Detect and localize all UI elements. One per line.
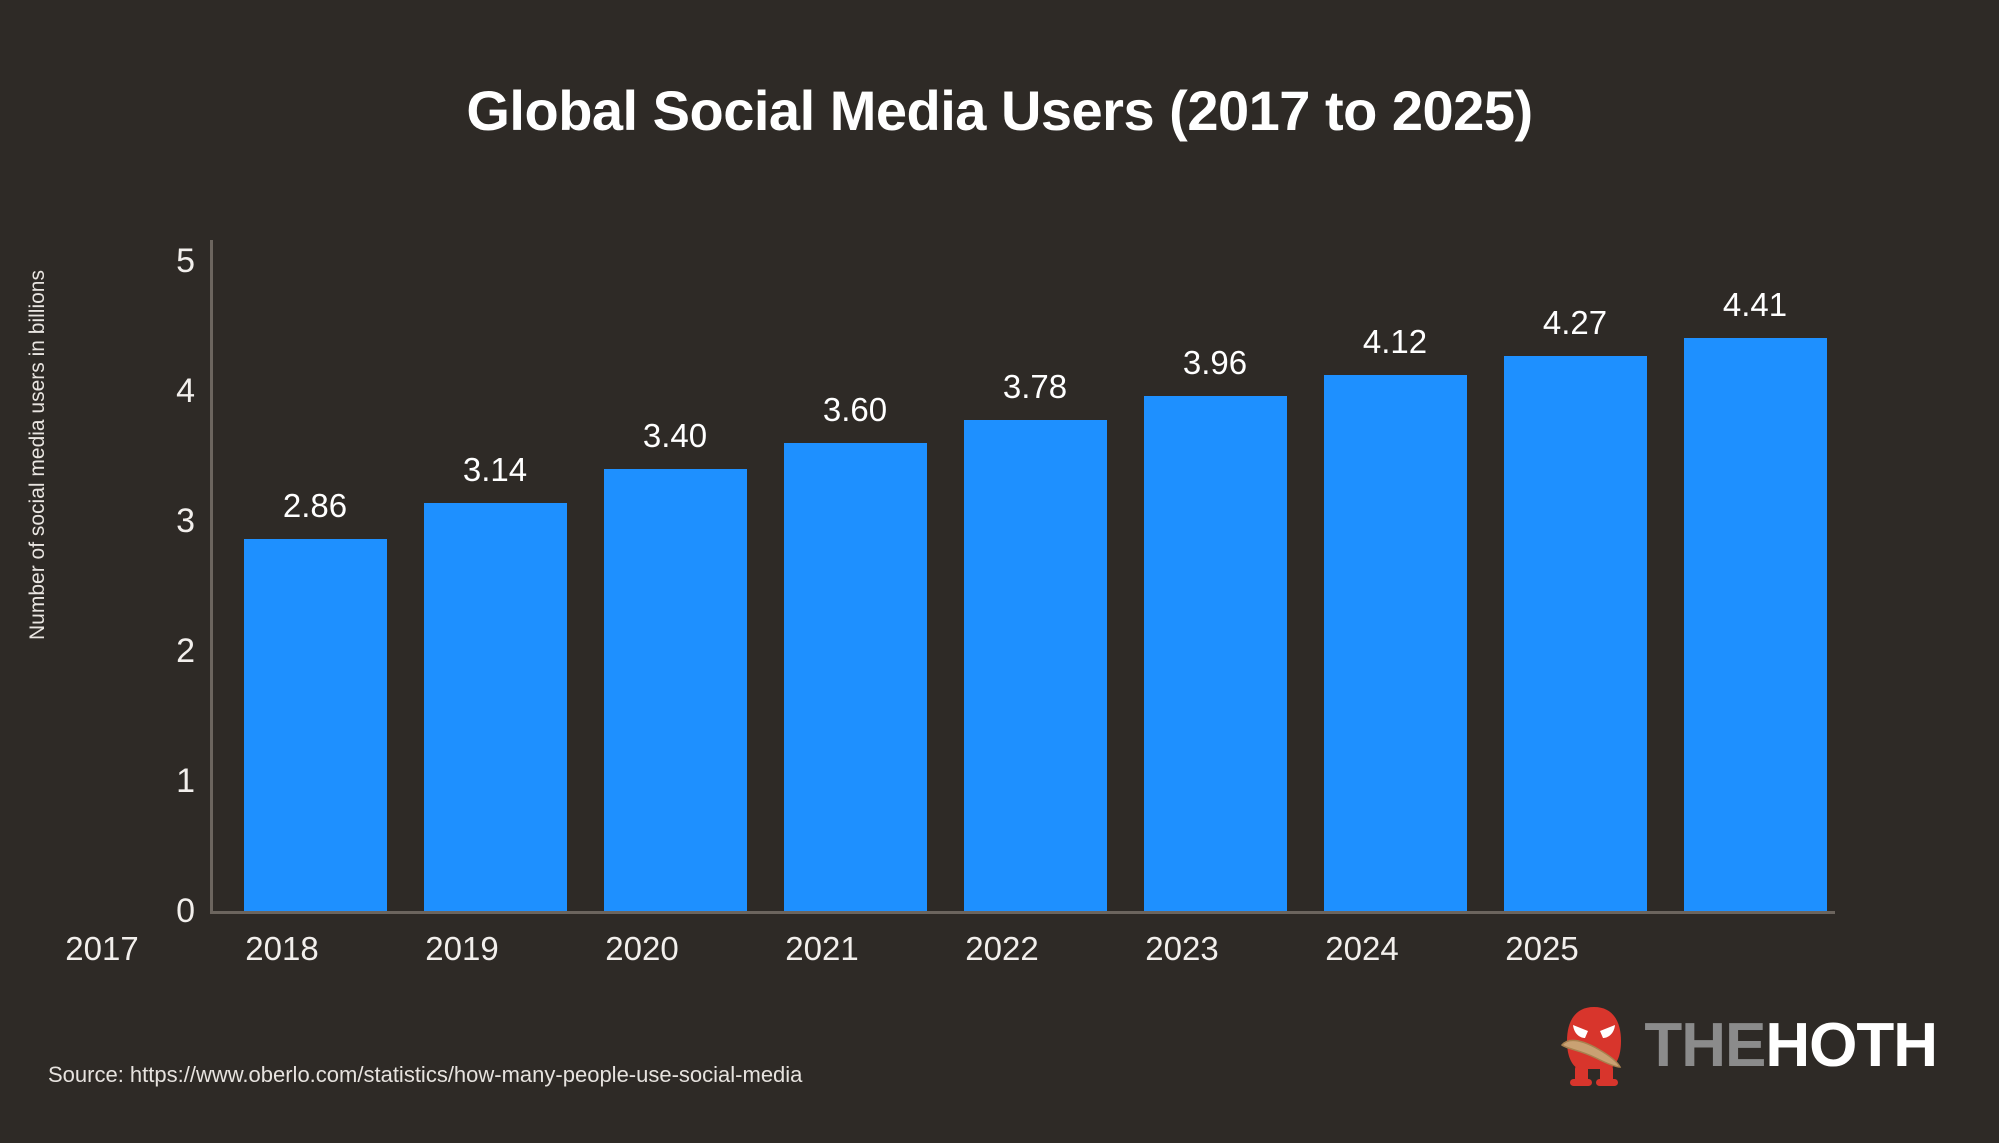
y-tick-label: 4: [125, 374, 195, 408]
bar-item[interactable]: 3.14: [424, 240, 567, 911]
logo-hoth-text: HOTH: [1765, 1011, 1937, 1080]
brand-logo: THEHOTH: [1558, 1005, 1937, 1087]
source-caption: Source: https://www.oberlo.com/statistic…: [48, 1062, 802, 1088]
y-tick-label: 0: [125, 894, 195, 928]
bar-rect[interactable]: [1324, 375, 1467, 911]
y-axis-ticks: 543210: [115, 0, 195, 1143]
bar-value-label: 3.40: [643, 417, 707, 455]
bar-item[interactable]: 3.96: [1144, 240, 1287, 911]
x-tick-label: 2019: [391, 930, 534, 968]
x-axis-line: [210, 911, 1835, 914]
x-tick-label: 2024: [1291, 930, 1434, 968]
bar-value-label: 3.60: [823, 391, 887, 429]
bar-value-label: 4.41: [1723, 286, 1787, 324]
logo-the-text: THE: [1644, 1011, 1765, 1080]
bar-series: 2.863.143.403.603.783.964.124.274.41: [213, 240, 1833, 911]
x-tick-label: 2017: [31, 930, 174, 968]
hoth-mascot-icon: [1558, 1005, 1630, 1087]
bar-item[interactable]: 4.27: [1504, 240, 1647, 911]
bar-item[interactable]: 4.12: [1324, 240, 1467, 911]
bar-rect[interactable]: [244, 539, 387, 911]
bar-item[interactable]: 2.86: [244, 240, 387, 911]
bar-value-label: 3.78: [1003, 368, 1067, 406]
logo-wordmark: THEHOTH: [1644, 1015, 1937, 1077]
bar-value-label: 3.96: [1183, 344, 1247, 382]
bar-rect[interactable]: [964, 420, 1107, 911]
y-tick-label: 2: [125, 634, 195, 668]
x-tick-label: 2018: [211, 930, 354, 968]
x-tick-label: 2020: [571, 930, 714, 968]
bar-value-label: 2.86: [283, 487, 347, 525]
bar-rect[interactable]: [424, 503, 567, 911]
y-tick-label: 3: [125, 504, 195, 538]
bar-item[interactable]: 3.40: [604, 240, 747, 911]
bar-rect[interactable]: [1504, 356, 1647, 911]
bar-rect[interactable]: [1144, 396, 1287, 911]
y-tick-label: 1: [125, 764, 195, 798]
page-title: Global Social Media Users (2017 to 2025): [0, 78, 1999, 143]
bar-value-label: 4.12: [1363, 323, 1427, 361]
bar-rect[interactable]: [604, 469, 747, 911]
bar-item[interactable]: 3.78: [964, 240, 1107, 911]
bar-item[interactable]: 4.41: [1684, 240, 1827, 911]
x-tick-label: 2025: [1471, 930, 1614, 968]
bar-rect[interactable]: [1684, 338, 1827, 911]
y-tick-label: 5: [125, 244, 195, 278]
chart-canvas: Global Social Media Users (2017 to 2025)…: [0, 0, 1999, 1143]
x-tick-label: 2023: [1111, 930, 1254, 968]
bar-rect[interactable]: [784, 443, 927, 911]
bar-value-label: 3.14: [463, 451, 527, 489]
x-tick-label: 2022: [931, 930, 1074, 968]
bar-value-label: 4.27: [1543, 304, 1607, 342]
bar-item[interactable]: 3.60: [784, 240, 927, 911]
y-axis-title: Number of social media users in billions: [26, 105, 50, 805]
x-tick-label: 2021: [751, 930, 894, 968]
